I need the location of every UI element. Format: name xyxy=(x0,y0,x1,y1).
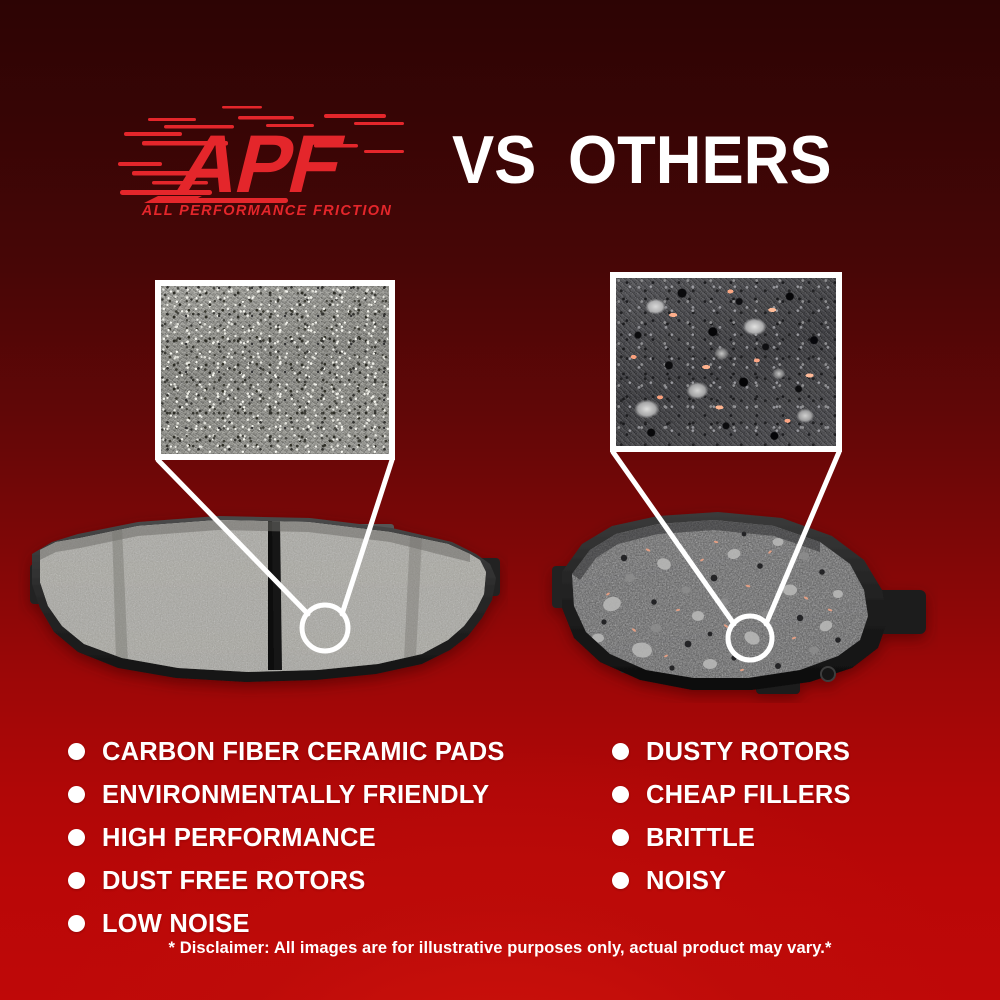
headline-others: OTHERS xyxy=(568,122,832,198)
headline-vs: VS xyxy=(452,122,536,198)
feature-label: LOW NOISE xyxy=(102,911,250,937)
bullet-icon xyxy=(612,829,629,846)
apf-tagline: ALL PERFORMANCE FRICTION xyxy=(136,203,398,219)
bullet-icon xyxy=(612,743,629,760)
fine-ceramic-texture xyxy=(161,286,389,454)
others-pad-body xyxy=(538,498,938,703)
apf-feature-list: CARBON FIBER CERAMIC PADS ENVIRONMENTALL… xyxy=(68,730,505,945)
list-item: DUSTY ROTORS xyxy=(612,730,851,773)
page-title: VSOTHERS xyxy=(452,126,832,194)
apf-material-closeup-image xyxy=(161,286,389,454)
list-item: HIGH PERFORMANCE xyxy=(68,816,505,859)
apf-brake-pad-image xyxy=(18,498,508,703)
svg-text:APF: APF xyxy=(170,118,351,210)
disclaimer-text: * Disclaimer: All images are for illustr… xyxy=(0,938,1000,958)
bullet-icon xyxy=(68,743,85,760)
coarse-filler-texture xyxy=(616,278,836,446)
feature-label: NOISY xyxy=(646,868,726,894)
promo-graphic-canvas: APF ALL PERFORMANCE FRICTION VSOTHERS xyxy=(0,0,1000,1000)
list-item: CARBON FIBER CERAMIC PADS xyxy=(68,730,505,773)
others-brake-pad-image xyxy=(538,498,938,703)
list-item: ENVIRONMENTALLY FRIENDLY xyxy=(68,773,505,816)
list-item: CHEAP FILLERS xyxy=(612,773,851,816)
bullet-icon xyxy=(68,786,85,803)
apf-logo: APF ALL PERFORMANCE FRICTION xyxy=(118,104,408,236)
bullet-icon xyxy=(68,915,85,932)
list-item: NOISY xyxy=(612,859,851,902)
feature-label: HIGH PERFORMANCE xyxy=(102,825,376,851)
apf-pad-body xyxy=(18,498,508,703)
feature-label: DUST FREE ROTORS xyxy=(102,868,365,894)
others-material-closeup-panel xyxy=(610,272,842,452)
apf-material-closeup-panel xyxy=(155,280,395,460)
others-feature-list: DUSTY ROTORS CHEAP FILLERS BRITTLE NOISY xyxy=(612,730,851,902)
bullet-icon xyxy=(612,872,629,889)
bullet-icon xyxy=(68,829,85,846)
feature-label: BRITTLE xyxy=(646,825,755,851)
feature-label: CHEAP FILLERS xyxy=(646,782,851,808)
feature-label: CARBON FIBER CERAMIC PADS xyxy=(102,739,505,765)
bullet-icon xyxy=(68,872,85,889)
bullet-icon xyxy=(612,786,629,803)
others-material-closeup-image xyxy=(616,278,836,446)
list-item: BRITTLE xyxy=(612,816,851,859)
feature-label: DUSTY ROTORS xyxy=(646,739,850,765)
list-item: DUST FREE ROTORS xyxy=(68,859,505,902)
feature-label: ENVIRONMENTALLY FRIENDLY xyxy=(102,782,489,808)
